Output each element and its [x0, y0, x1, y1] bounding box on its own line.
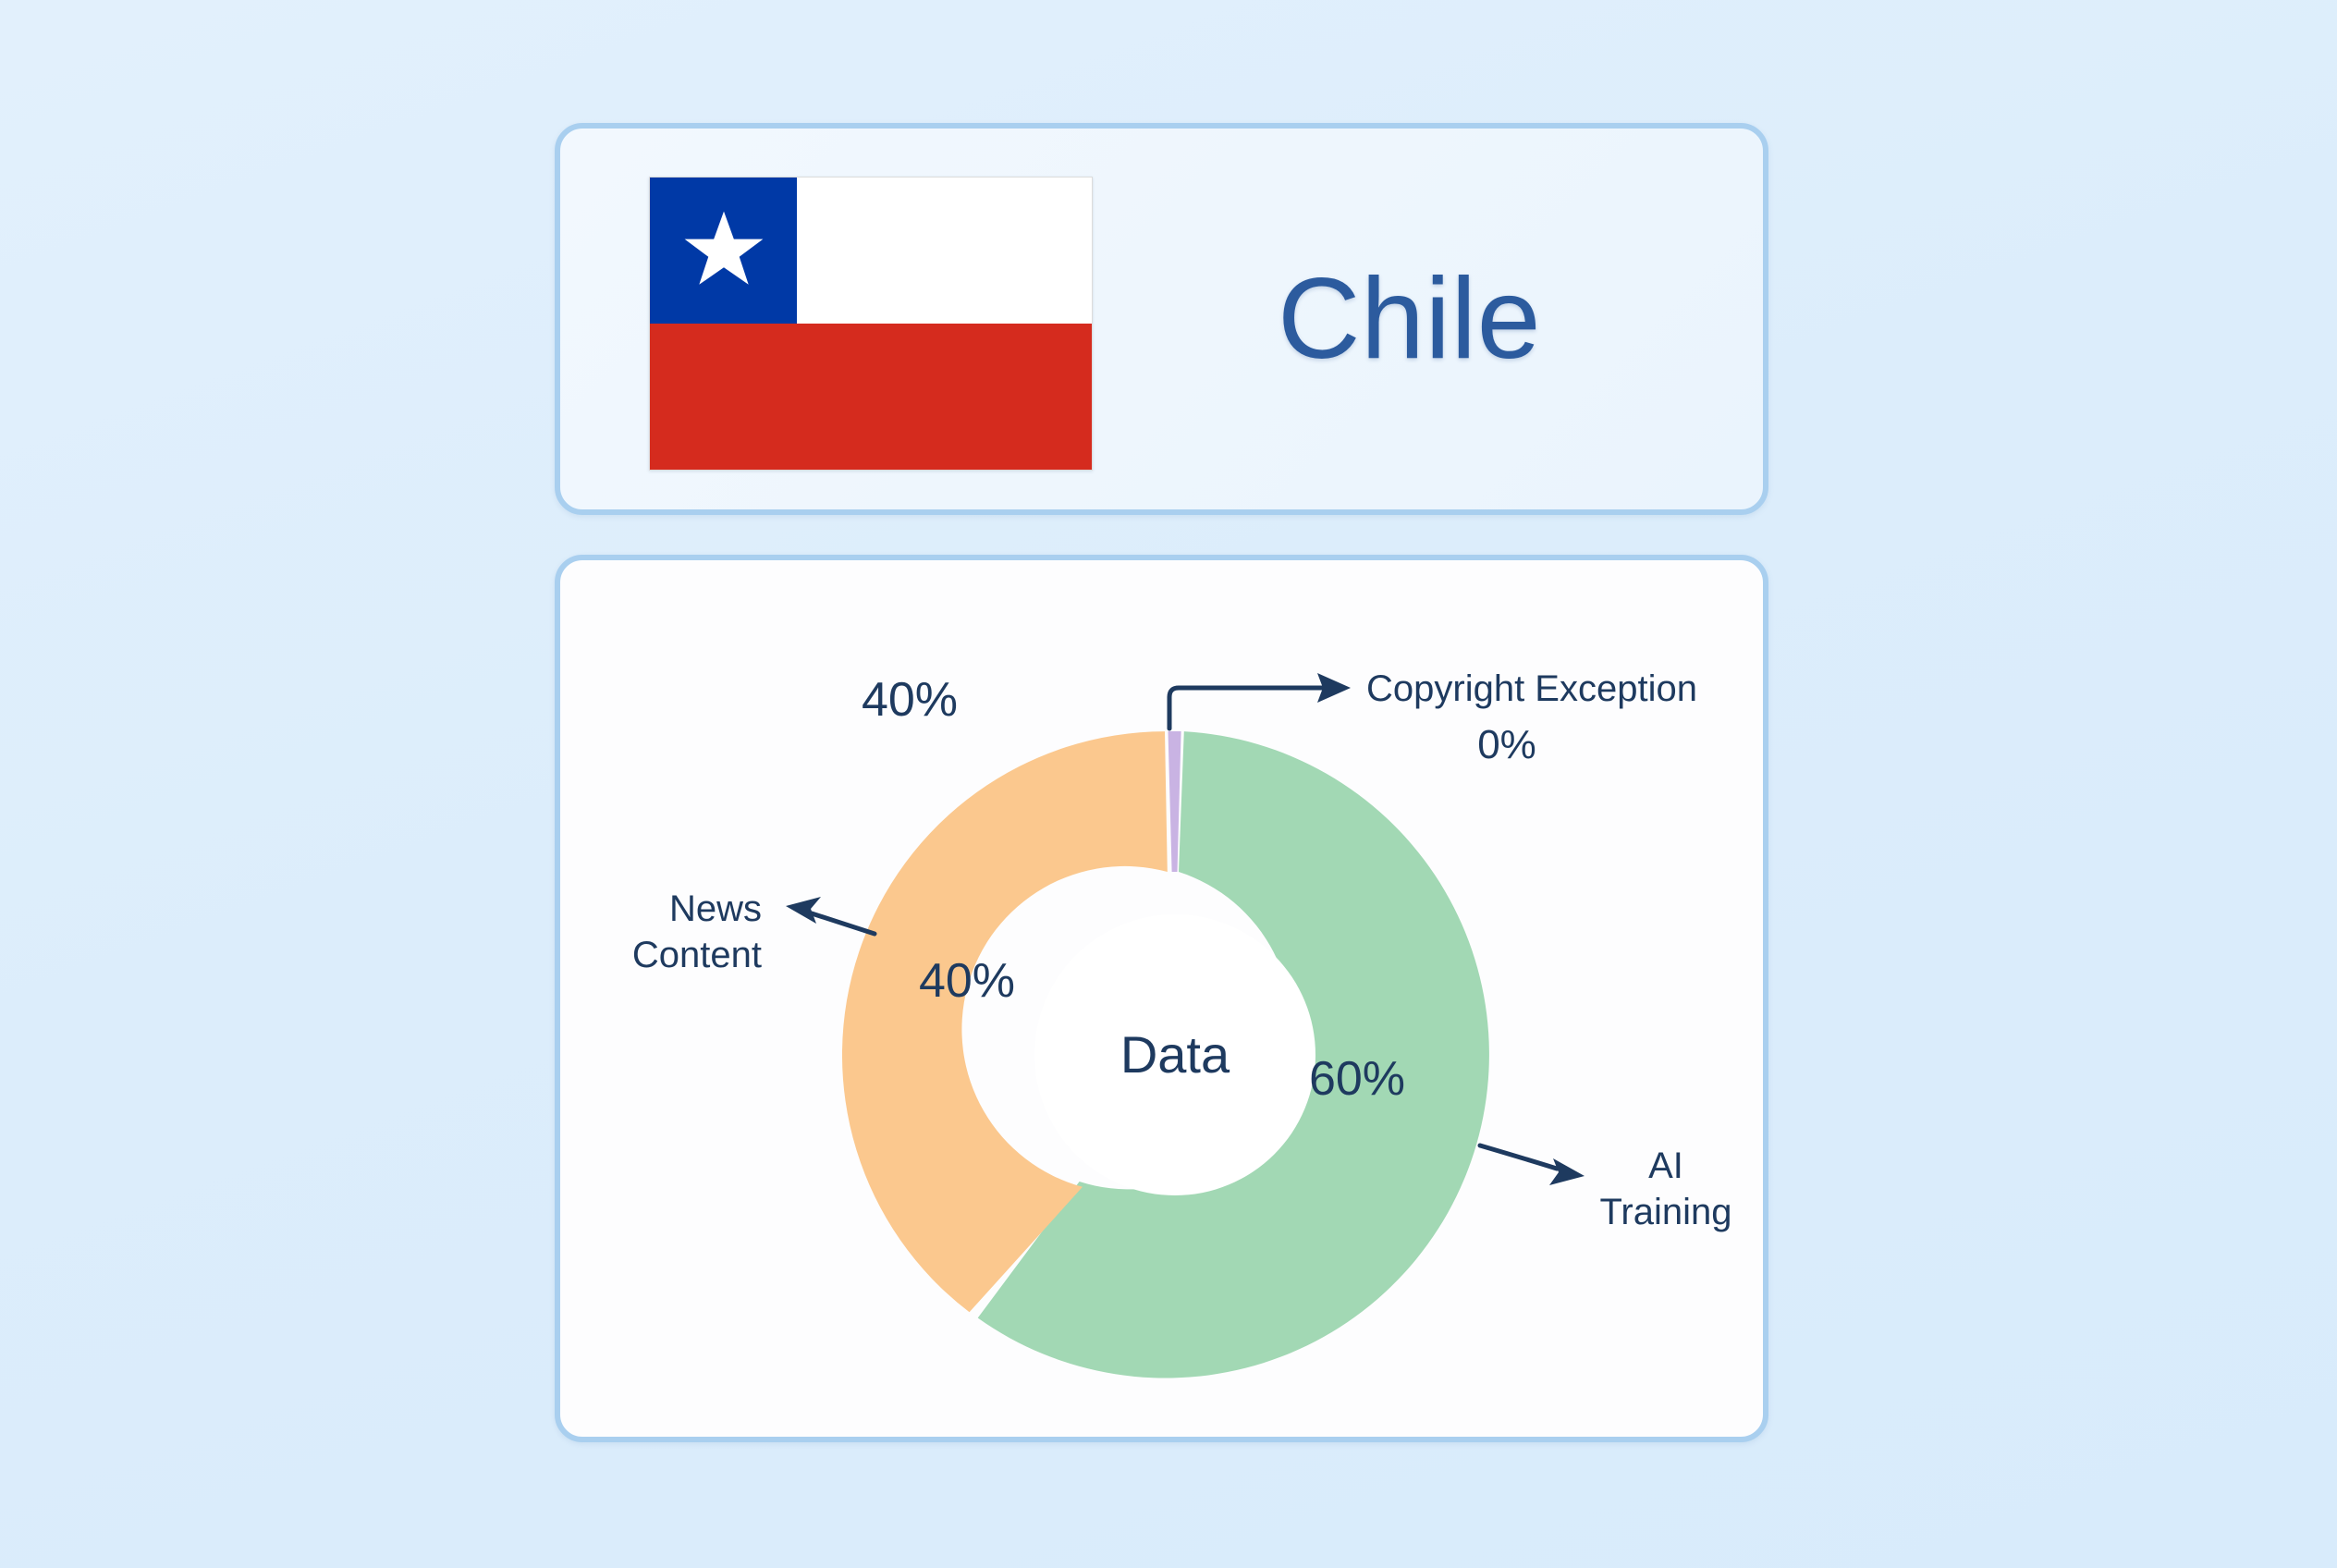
donut-slice-copyright-exception[interactable] — [1168, 731, 1181, 872]
slice-value-news-content: 40% — [862, 673, 958, 727]
donut-chart-card: Data 40% 40% Copyright Exception 0% News… — [555, 555, 1768, 1442]
slice-percent-ai-training: 60% — [1309, 1052, 1405, 1106]
slice-percent-news-content: 40% — [919, 954, 1015, 1008]
annotation-label-ai-training-line1: AI — [1648, 1145, 1683, 1186]
flag-star-icon — [681, 208, 766, 293]
flag-red-band — [650, 324, 1092, 470]
donut-chart: Data 40% 40% Copyright Exception 0% News… — [560, 560, 1774, 1448]
ai-training-arrowhead — [1549, 1158, 1585, 1185]
annotation-label-news-content-line1: News — [669, 888, 762, 929]
news-content-arrowhead — [786, 897, 821, 924]
chile-flag-icon — [649, 177, 1093, 471]
flag-container — [649, 177, 1093, 471]
news-content-connector — [812, 913, 875, 934]
donut-center-label: Data — [1120, 1025, 1230, 1084]
annotation-label-copyright-exception: Copyright Exception — [1366, 668, 1697, 709]
annotation-value-copyright-exception: 0% — [1477, 722, 1536, 767]
copyright-exception-connector — [1169, 688, 1323, 729]
annotation-label-news-content-line2: Content — [632, 935, 762, 975]
page-background: Chile Data 40% 40% — [0, 0, 2337, 1568]
annotation-label-ai-training-line2: Training — [1599, 1192, 1731, 1232]
country-header-card: Chile — [555, 123, 1768, 515]
country-name-title: Chile — [1278, 262, 1541, 376]
ai-training-connector — [1480, 1145, 1557, 1169]
